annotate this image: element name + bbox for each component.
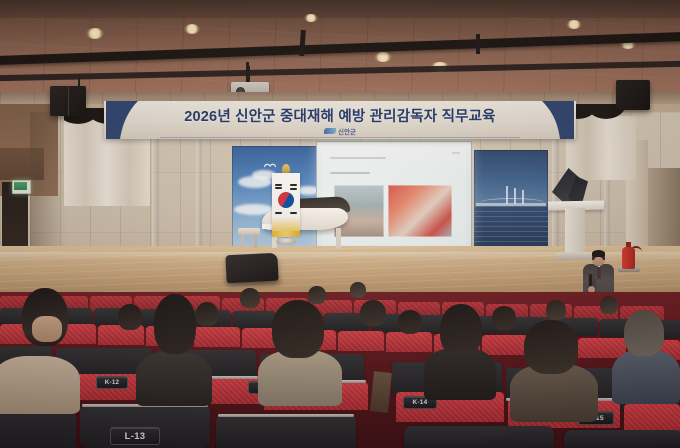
shinan-logo-mark-icon <box>324 128 336 134</box>
table-row[interactable] <box>404 426 554 448</box>
mural-bridge-cable <box>480 198 544 207</box>
stage-monitor-speaker <box>225 253 278 284</box>
audience-head <box>546 300 566 320</box>
mural-seagull-icon <box>264 155 276 160</box>
audience-member <box>258 350 342 406</box>
lectern <box>565 208 585 254</box>
seat-number-plate: K-12 <box>96 376 128 389</box>
ceiling-downlight <box>184 24 200 34</box>
seat-cushion[interactable] <box>386 332 432 352</box>
fire-extinguisher <box>622 247 635 269</box>
auditorium-photo: 2026년 신안군 중대재해 예방 관리감독자 직무교육 신안군 <box>0 0 680 448</box>
flag-trigram <box>290 188 297 190</box>
exit-sign-icon <box>14 182 27 190</box>
piano-bench-leg <box>241 234 244 248</box>
lectern-base <box>556 252 594 260</box>
audience-head <box>308 286 326 304</box>
ceiling-upper-band <box>0 0 680 18</box>
presenter-tie <box>597 267 601 279</box>
slide-photo-right <box>388 185 452 237</box>
audience-head <box>154 294 196 354</box>
presenter-hair <box>592 250 605 257</box>
audience-head <box>240 288 260 308</box>
audience-head <box>350 282 366 298</box>
projection-glare <box>318 143 470 183</box>
flag-stand-base <box>276 238 296 245</box>
seat-cushion[interactable] <box>482 335 528 355</box>
taeguk-symbol-icon <box>278 192 294 208</box>
table-row[interactable] <box>216 414 356 448</box>
truss-riser <box>476 34 480 54</box>
ceiling-downlight <box>566 20 582 29</box>
audience-head <box>196 302 218 326</box>
audience-head <box>32 316 62 342</box>
audience-head <box>600 296 618 314</box>
right-curtain <box>566 116 636 180</box>
ceiling-downlight <box>374 52 392 62</box>
flag-trigram <box>275 187 282 189</box>
audience-head <box>624 310 664 356</box>
piano-bench-leg <box>254 234 257 248</box>
seat-cushion[interactable] <box>578 338 626 358</box>
flag-trigram <box>275 212 282 214</box>
audience-head <box>440 304 482 356</box>
ceiling-downlight <box>86 28 104 39</box>
audience-head <box>492 306 516 330</box>
seat-armrest-rail <box>218 414 354 417</box>
seat-cushion[interactable] <box>194 327 240 347</box>
table-row[interactable] <box>564 430 680 448</box>
flag-trigram <box>290 184 297 186</box>
seat-number-plate: L-13 <box>110 427 160 445</box>
ceiling-downlight <box>304 14 318 22</box>
audience-member <box>136 352 212 406</box>
banner-logo: 신안군 <box>104 124 576 138</box>
audience-head <box>360 300 386 326</box>
seat-back[interactable] <box>232 311 276 329</box>
presenter-face <box>594 257 603 266</box>
pa-speaker-seam <box>68 86 69 116</box>
pa-speaker-right <box>616 80 650 110</box>
audience-member <box>0 356 80 414</box>
flag-trigram <box>275 184 282 186</box>
seat-cushion[interactable] <box>338 331 384 351</box>
audience-head <box>272 300 324 358</box>
piano-leg <box>336 228 341 248</box>
banner-logo-text: 신안군 <box>338 126 356 136</box>
audience-head <box>398 310 422 334</box>
flag-fringe <box>272 231 300 237</box>
audience-member <box>612 350 680 404</box>
audience-head <box>524 320 578 374</box>
audience-head <box>118 304 142 330</box>
flag-trigram <box>290 212 297 214</box>
